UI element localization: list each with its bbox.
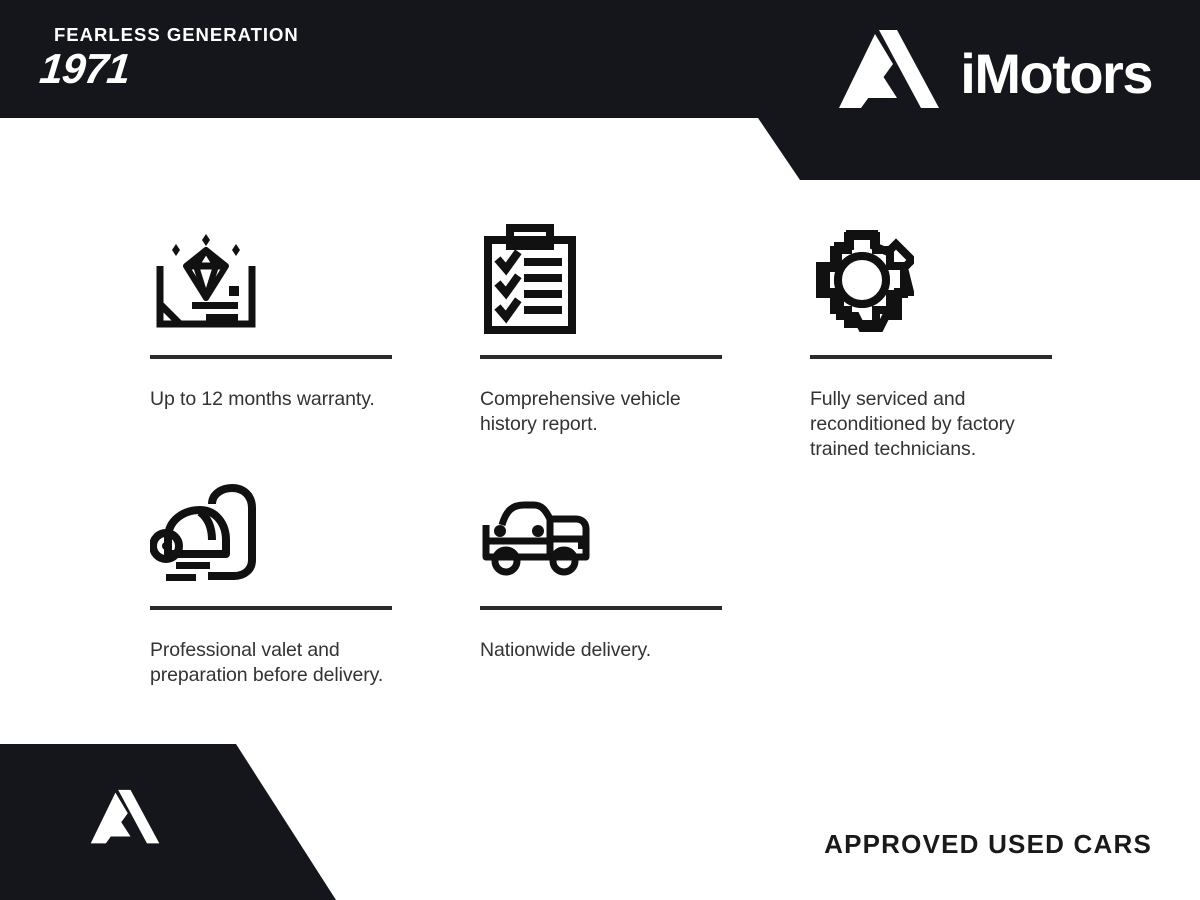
vacuum-cleaner-icon [150,466,392,606]
feature-divider [810,355,1052,359]
feature-divider [150,355,392,359]
features-row-1: Up to 12 months warranty. [150,205,1050,462]
feature-label-serviced: Fully serviced and reconditioned by fact… [810,387,1052,462]
imotors-chevron-logo-icon [835,30,940,117]
feature-card-valet: Professional valet and preparation befor… [150,466,392,688]
feature-card-warranty: Up to 12 months warranty. [150,205,392,462]
clipboard-checklist-icon [480,205,722,355]
footer-angled-shape [0,744,340,900]
footer-tagline: APPROVED USED CARS [824,829,1152,860]
diamond-certificate-icon [150,205,392,355]
car-transporter-truck-icon [480,466,722,606]
feature-label-delivery: Nationwide delivery. [480,638,722,663]
features-row-2: Professional valet and preparation befor… [150,466,1050,688]
feature-divider [480,355,722,359]
brand-lockup: iMotors [835,30,1152,117]
feature-label-history-report: Comprehensive vehicle history report. [480,387,722,437]
feature-label-warranty: Up to 12 months warranty. [150,387,392,412]
brand-name: iMotors [960,46,1152,102]
feature-label-valet: Professional valet and preparation befor… [150,638,392,688]
feature-card-serviced: Fully serviced and reconditioned by fact… [810,205,1052,462]
features-grid: Up to 12 months warranty. [150,205,1050,688]
header-year-1971: 1971 [38,48,132,90]
feature-card-history-report: Comprehensive vehicle history report. [480,205,722,462]
feature-divider [480,606,722,610]
header-angled-wedge [0,118,1200,180]
footer-imotors-chevron-logo-icon [88,782,160,859]
gear-cog-icon [810,205,1052,355]
feature-card-delivery: Nationwide delivery. [480,466,722,688]
feature-divider [150,606,392,610]
grid-spacer [810,466,1050,688]
promo-page: FEARLESS GENERATION 1971 iMotors [0,0,1200,900]
header-tagline: FEARLESS GENERATION [54,24,299,46]
